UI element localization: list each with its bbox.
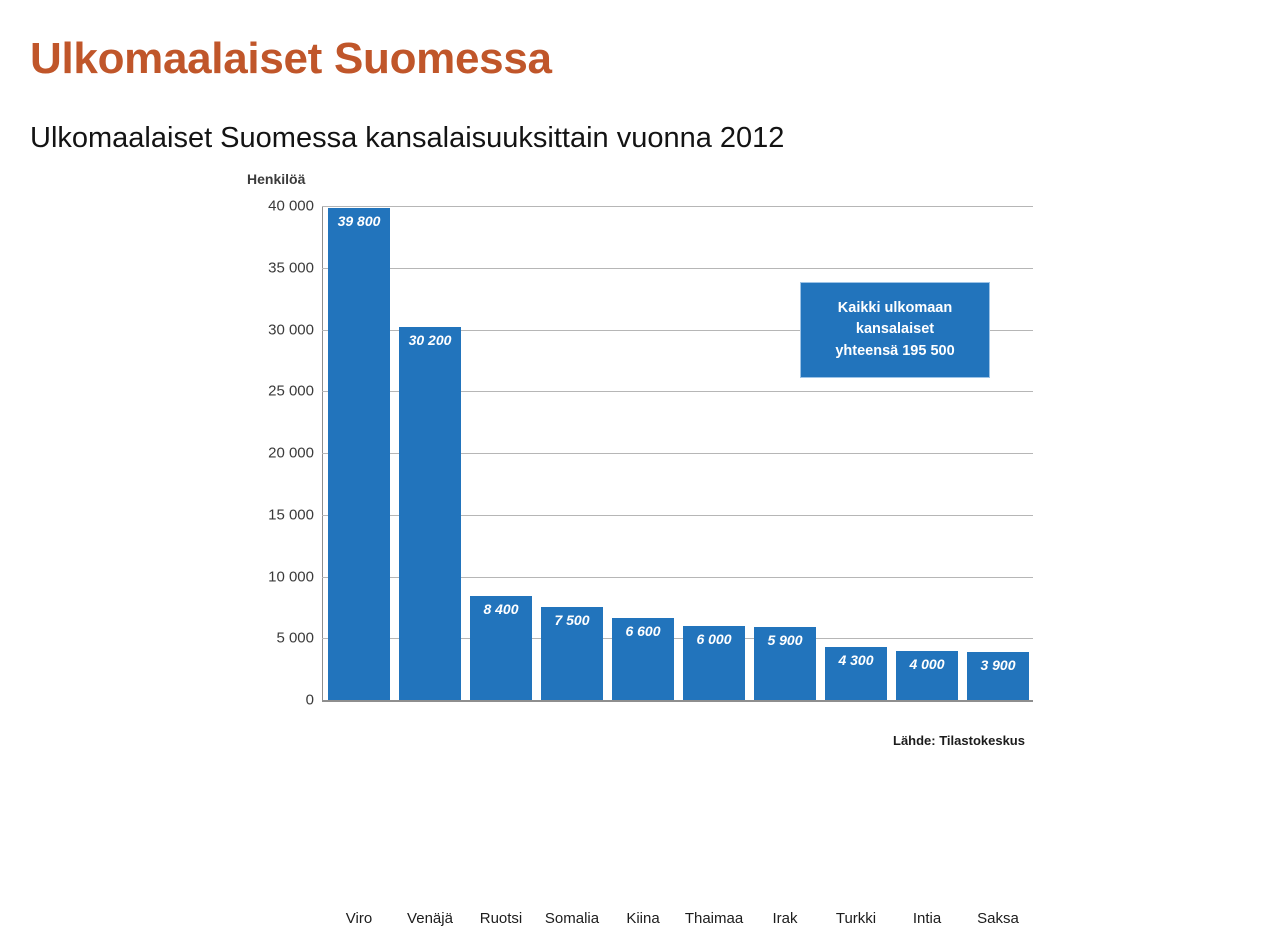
bar-value-label: 6 600 <box>612 623 674 639</box>
bar-value-label: 7 500 <box>541 612 603 628</box>
source-note: Lähde: Tilastokeskus <box>893 733 1025 748</box>
bar-value-label: 8 400 <box>470 601 532 617</box>
y-axis-tick-label: 10 000 <box>236 568 314 585</box>
y-axis-tick-label: 35 000 <box>236 259 314 276</box>
x-axis-line <box>322 700 1033 702</box>
x-axis-category-label: Saksa <box>967 910 1029 927</box>
bar: 6 000 <box>683 626 745 700</box>
bar: 5 900 <box>754 627 816 700</box>
y-axis-tick-label: 15 000 <box>236 506 314 523</box>
bar: 4 300 <box>825 647 887 700</box>
bar-value-label: 5 900 <box>754 632 816 648</box>
total-callout-text: Kaikki ulkomaankansalaisetyhteensä 195 5… <box>827 298 962 361</box>
gridline <box>322 268 1033 269</box>
x-axis-category-label: Irak <box>754 910 816 927</box>
y-axis-line <box>322 206 323 702</box>
bar-value-label: 4 000 <box>896 656 958 672</box>
total-callout-box: Kaikki ulkomaankansalaisetyhteensä 195 5… <box>800 282 990 378</box>
x-axis-category-label: Ruotsi <box>470 910 532 927</box>
x-axis-category-label: Intia <box>896 910 958 927</box>
y-axis-tick-label: 40 000 <box>236 198 314 215</box>
x-axis-category-label: Somalia <box>541 910 603 927</box>
bar: 7 500 <box>541 607 603 700</box>
bar-chart: Henkilöä 05 00010 00015 00020 00025 0003… <box>0 0 1280 748</box>
y-axis-tick-label: 5 000 <box>236 630 314 647</box>
x-axis-category-label: Kiina <box>612 910 674 927</box>
bar: 39 800 <box>328 208 390 700</box>
bar-value-label: 6 000 <box>683 631 745 647</box>
bar: 8 400 <box>470 596 532 700</box>
bar: 3 900 <box>967 652 1029 700</box>
bar-value-label: 39 800 <box>328 213 390 229</box>
bar: 4 000 <box>896 651 958 700</box>
y-axis-title: Henkilöä <box>247 171 305 187</box>
bar: 30 200 <box>399 327 461 700</box>
bar-value-label: 4 300 <box>825 652 887 668</box>
bar-value-label: 30 200 <box>399 332 461 348</box>
bar: 6 600 <box>612 618 674 700</box>
y-axis-tick-labels: 05 00010 00015 00020 00025 00030 00035 0… <box>236 206 314 700</box>
x-axis-category-label: Venäjä <box>399 910 461 927</box>
gridline <box>322 206 1033 207</box>
y-axis-tick-label: 0 <box>236 692 314 709</box>
x-axis-category-label: Viro <box>328 910 390 927</box>
x-axis-category-label: Turkki <box>825 910 887 927</box>
y-axis-tick-label: 30 000 <box>236 321 314 338</box>
bar-value-label: 3 900 <box>967 657 1029 673</box>
y-axis-tick-label: 25 000 <box>236 383 314 400</box>
x-axis-category-label: Thaimaa <box>683 910 745 927</box>
plot-area: 39 800Viro30 200Venäjä8 400Ruotsi7 500So… <box>322 206 1033 700</box>
y-axis-tick-label: 20 000 <box>236 445 314 462</box>
